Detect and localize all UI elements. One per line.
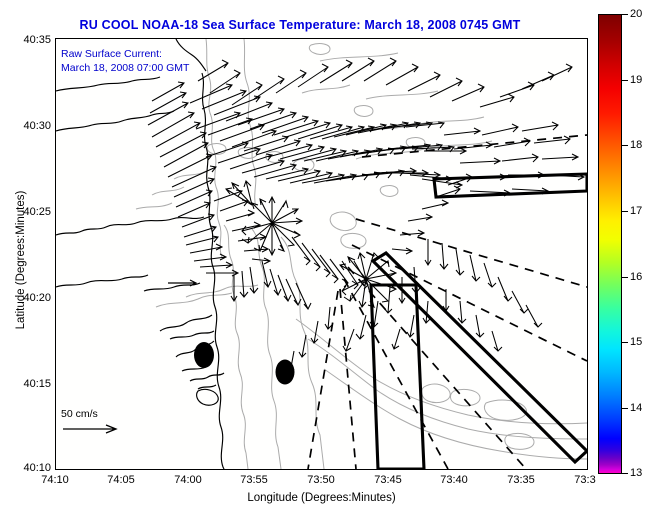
colorbar-tick-1 xyxy=(622,80,628,81)
colorbar-label-20: 20 xyxy=(630,8,642,20)
colorbar-label-16: 16 xyxy=(630,271,642,283)
map-overlay-svg xyxy=(56,39,587,469)
x-axis-label: Longitude (Degrees:Minutes) xyxy=(55,492,588,504)
current-annotation: Raw Surface Current: March 18, 2008 07:0… xyxy=(61,47,189,75)
quiver-group-convergence xyxy=(182,181,302,276)
colorbar-tick-0 xyxy=(622,14,628,15)
traffic-separation-lines xyxy=(308,135,587,469)
colorbar-tick-2 xyxy=(622,145,628,146)
colorbar-label-18: 18 xyxy=(630,139,642,151)
shipping-lanes xyxy=(371,174,587,469)
scale-arrow-icon xyxy=(61,422,123,436)
xtick-0: 74:10 xyxy=(41,474,69,486)
ytick-3: 40:20 xyxy=(23,292,51,304)
ytick-1: 40:30 xyxy=(23,120,51,132)
y-axis-label: Latitude (Degrees:Minutes) xyxy=(15,150,27,370)
colorbar-tick-3 xyxy=(622,211,628,212)
colorbar-label-15: 15 xyxy=(630,336,642,348)
quiver-group-north-band xyxy=(190,84,444,139)
scale-legend-label: 50 cm/s xyxy=(61,408,123,420)
map-plot-area: Raw Surface Current: March 18, 2008 07:0… xyxy=(55,38,588,470)
xtick-5: 73:45 xyxy=(374,474,402,486)
xtick-7: 73:35 xyxy=(507,474,535,486)
quiver-group-northwest xyxy=(148,82,216,217)
ytick-0: 40:35 xyxy=(23,34,51,46)
ytick-4: 40:15 xyxy=(23,378,51,390)
ytick-5: 40:10 xyxy=(23,462,51,474)
colorbar-label-17: 17 xyxy=(630,205,642,217)
xtick-3: 73:55 xyxy=(240,474,268,486)
figure-root: RU COOL NOAA-18 Sea Surface Temperature:… xyxy=(0,0,651,518)
colorbar-tick-5 xyxy=(622,342,628,343)
colorbar xyxy=(598,14,622,474)
coastline xyxy=(56,39,224,469)
annotation-line-1: Raw Surface Current: xyxy=(61,47,189,61)
xtick-1: 74:05 xyxy=(107,474,135,486)
colorbar-tick-7 xyxy=(622,473,628,474)
xtick-2: 74:00 xyxy=(174,474,202,486)
chart-title: RU COOL NOAA-18 Sea Surface Temperature:… xyxy=(0,18,600,32)
ytick-2: 40:25 xyxy=(23,206,51,218)
colorbar-label-13: 13 xyxy=(630,467,642,479)
colorbar-label-19: 19 xyxy=(630,74,642,86)
colorbar-label-14: 14 xyxy=(630,402,642,414)
colorbar-tick-6 xyxy=(622,408,628,409)
xtick-6: 73:40 xyxy=(440,474,468,486)
station-marker xyxy=(194,342,214,368)
quiver-group-far-field xyxy=(287,289,502,373)
xtick-4: 73:50 xyxy=(307,474,335,486)
colorbar-tick-4 xyxy=(622,277,628,278)
scale-legend: 50 cm/s xyxy=(61,408,123,441)
annotation-line-2: March 18, 2008 07:00 GMT xyxy=(61,61,189,75)
xtick-8: 73:3 xyxy=(574,474,595,486)
station-markers xyxy=(194,342,295,385)
quiver-group-second-node xyxy=(340,253,396,307)
